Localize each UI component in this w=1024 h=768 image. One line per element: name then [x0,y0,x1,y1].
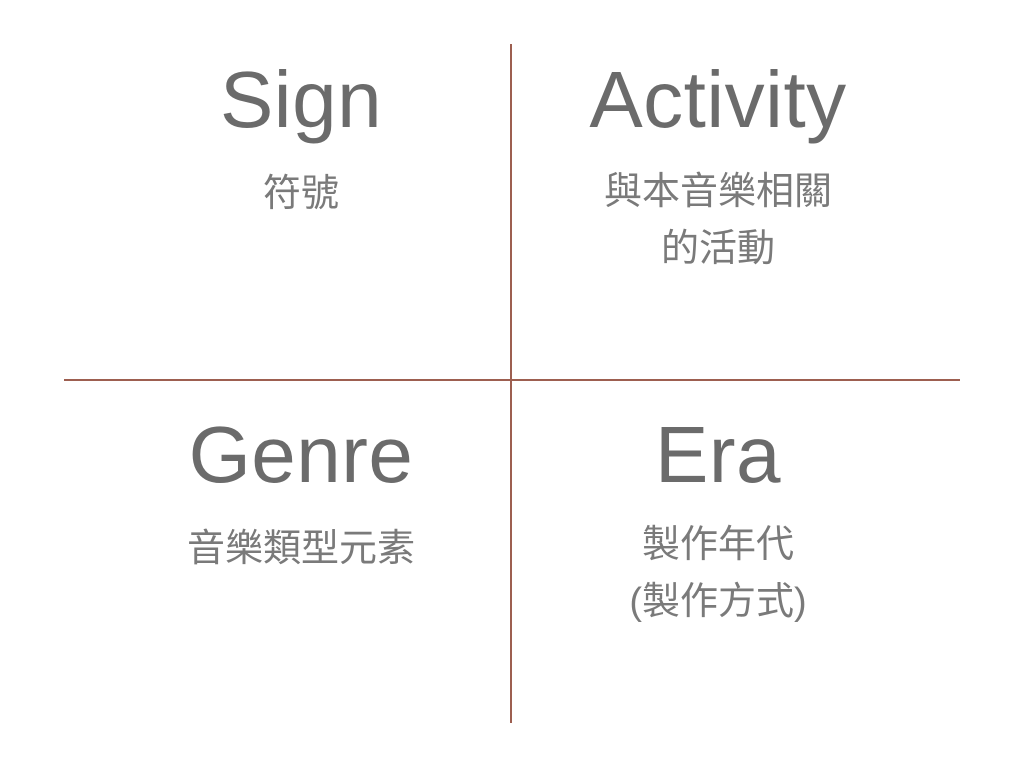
quadrant-genre-subtitle: 音樂類型元素 [187,521,415,578]
quadrant-sign: Sign 符號 [64,60,546,223]
slide-canvas: Sign 符號 Activity 與本音樂相關 的活動 Genre 音樂類型元素… [0,0,1024,768]
quadrant-genre: Genre 音樂類型元素 [56,415,554,578]
quadrant-era-inner: Era 製作年代 (製作方式) [512,415,924,631]
quadrant-era-subtitle: 製作年代 (製作方式) [629,517,806,631]
quadrant-sign-subtitle: 符號 [263,166,339,223]
quadrant-sign-title: Sign [220,60,382,140]
horizontal-divider-line [64,379,960,381]
quadrant-era-title: Era [655,415,781,495]
quadrant-activity: Activity 與本音樂相關 的活動 [512,60,924,278]
quadrant-activity-inner: Activity 與本音樂相關 的活動 [512,60,924,278]
quadrant-era: Era 製作年代 (製作方式) [512,415,924,631]
quadrant-sign-inner: Sign 符號 [60,60,542,223]
quadrant-activity-title: Activity [589,60,846,140]
quadrant-activity-subtitle: 與本音樂相關 的活動 [604,164,832,278]
quadrant-genre-inner: Genre 音樂類型元素 [52,415,550,578]
quadrant-genre-title: Genre [189,415,414,495]
